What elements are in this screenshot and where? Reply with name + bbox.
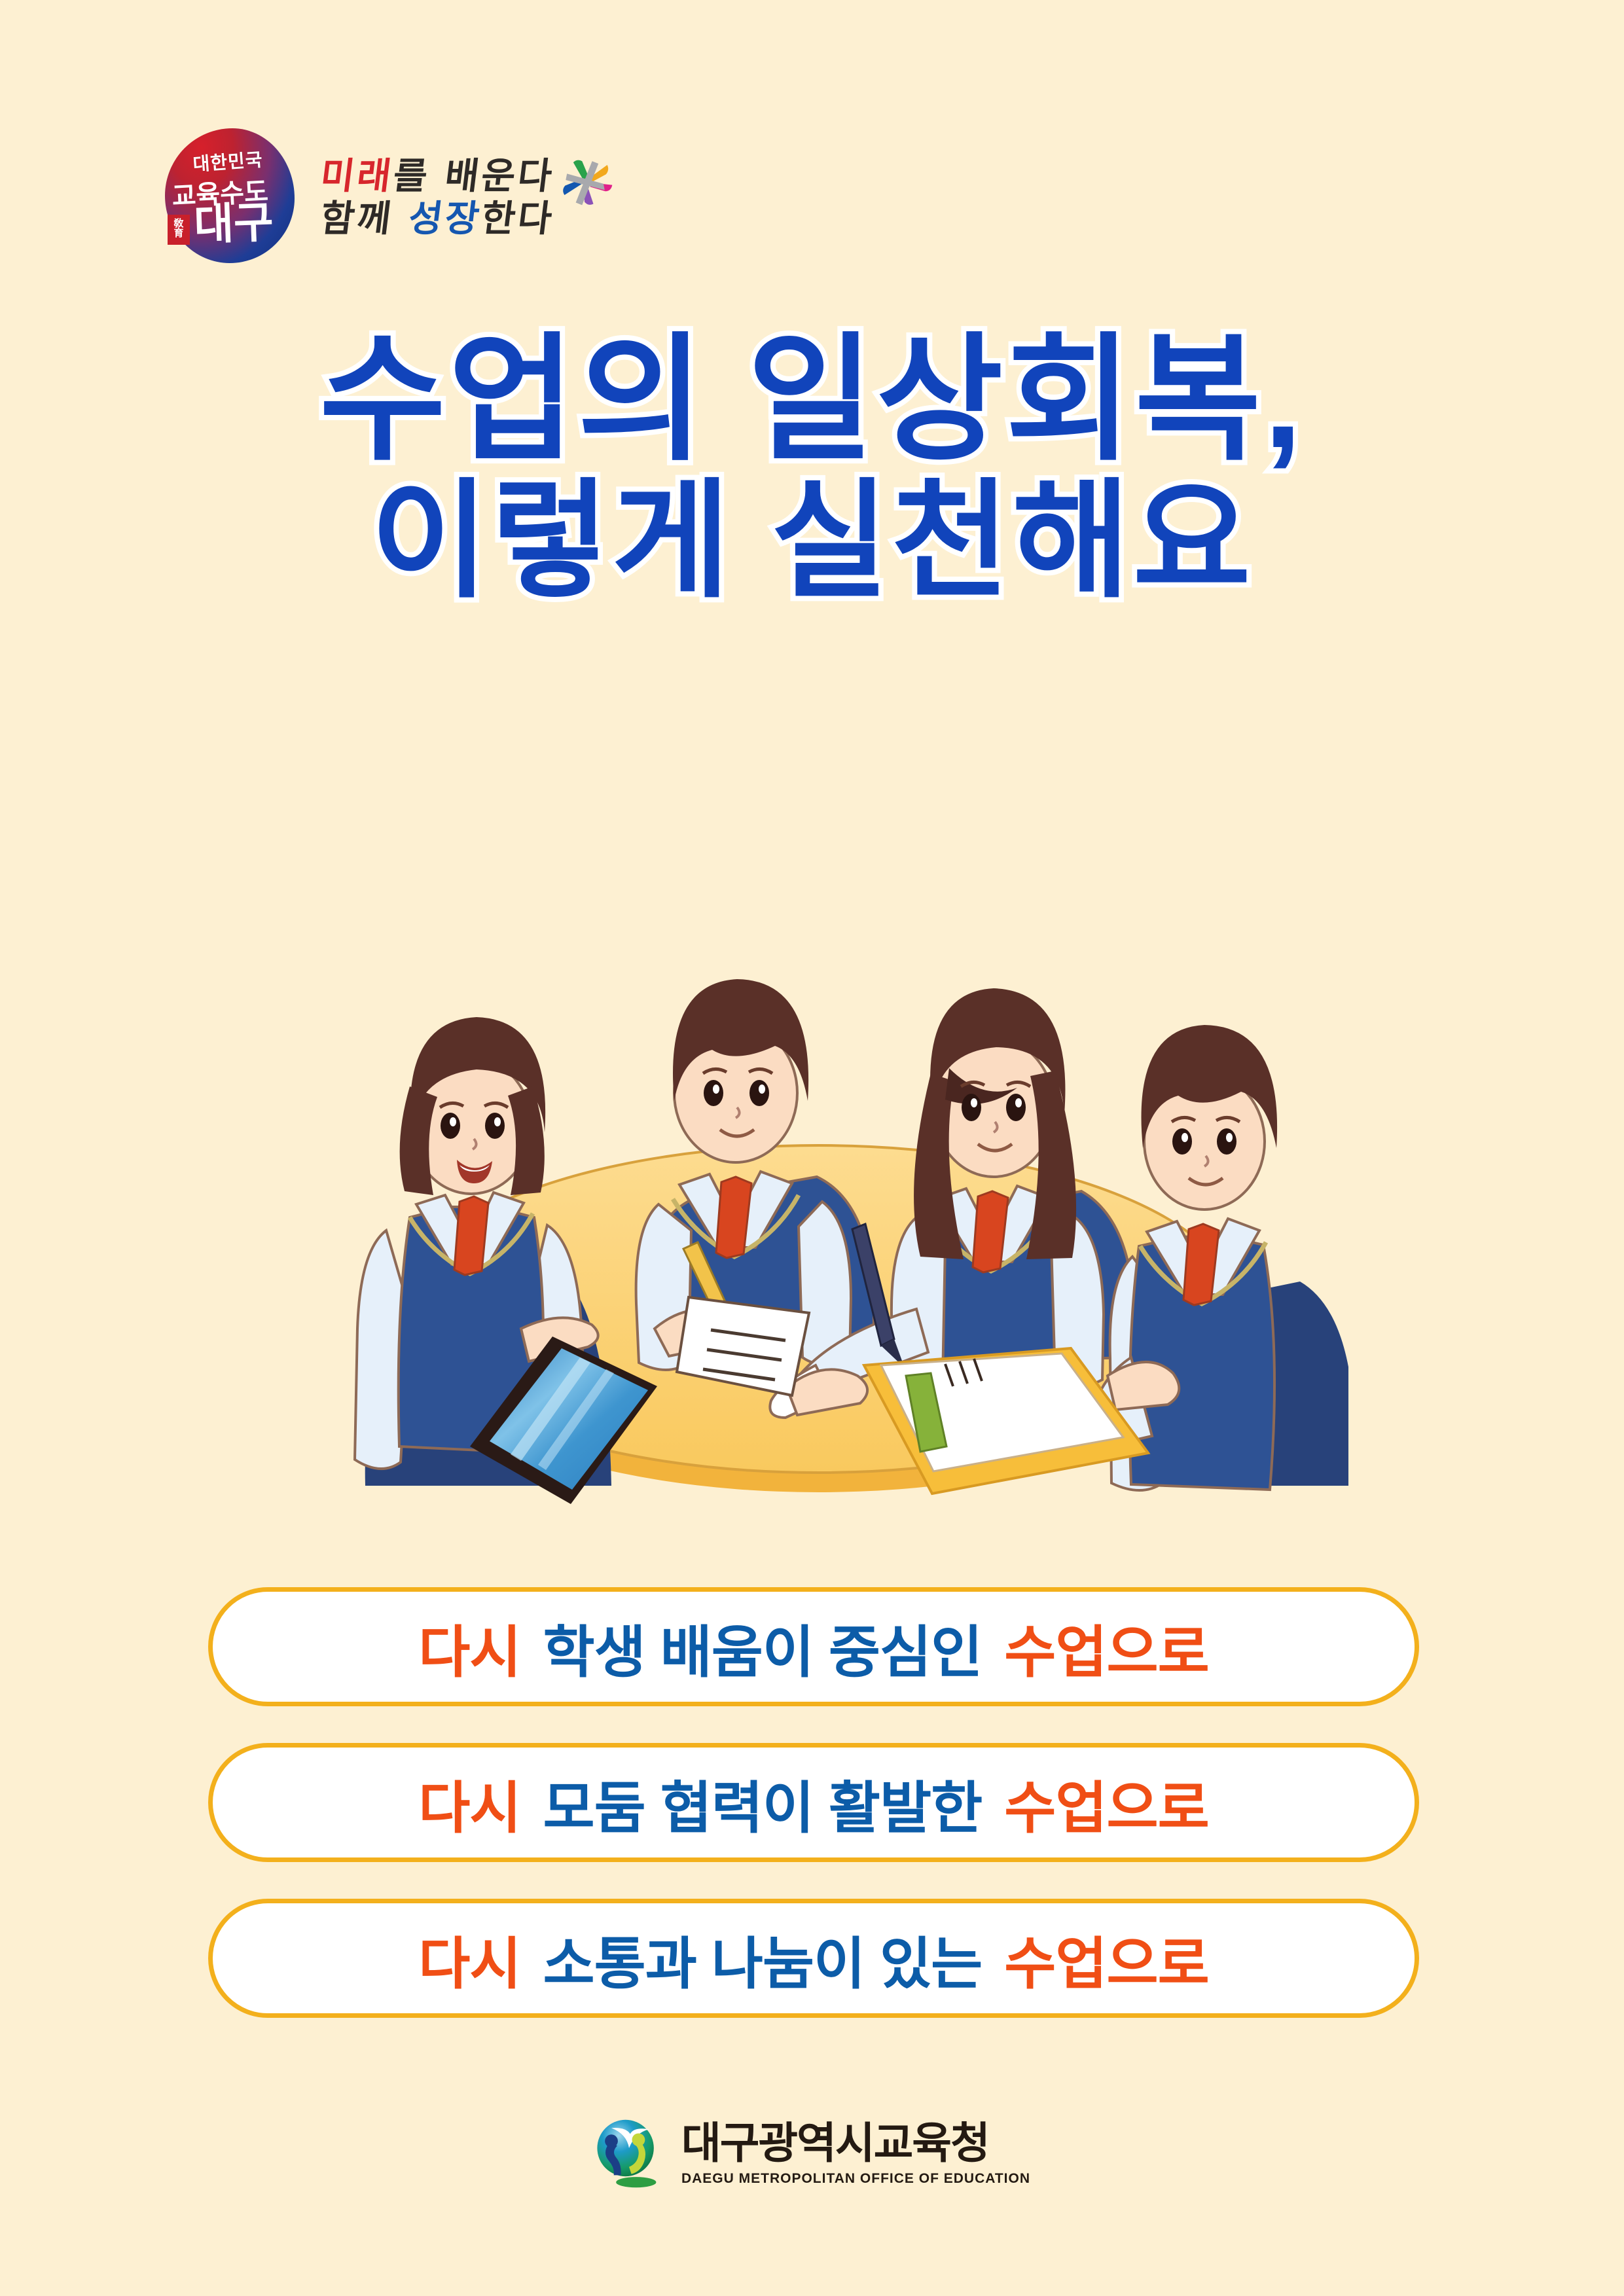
pill-2-destination: 수업으로 [1004,1777,1208,1840]
slogan-line1-red: 미래 [318,154,396,198]
title-line-2: 이렇게 실천해요 [0,473,1624,609]
message-pill-list: 다시학생 배움이 중심인수업으로 다시모둠 협력이 활발한수업으로 다시소통과 … [208,1587,1419,2054]
globe-sphere [597,2120,653,2176]
pill-1-middle: 학생 배움이 중심인 [543,1621,983,1684]
brand-header: 대한민국 교육수도 대구 敎 育 미래를 배운다 함께 성장한다 [165,128,554,263]
footer: 대구광역시교육청 DAEGU METROPOLITAN OFFICE OF ED… [0,2117,1624,2191]
emblem-seal-icon: 敎 育 [168,215,190,245]
daegu-education-capital-emblem: 대한민국 교육수도 대구 敎 育 [165,128,295,263]
pill-2-middle: 모둠 협력이 활발한 [543,1777,983,1840]
pill-3-middle: 소통과 나눔이 있는 [543,1933,983,1996]
daegu-education-globe-icon [594,2117,664,2191]
emblem-text-group: 대한민국 교육수도 대구 敎 育 [165,128,295,263]
footer-org-name-kr: 대구광역시교육청 [681,2121,989,2164]
pill-3-text: 다시소통과 나눔이 있는수업으로 [418,1918,1208,2000]
slogan-line-1: 미래를 배운다 [318,155,557,198]
title-line-1: 수업의 일상회복, [0,327,1624,473]
message-pill-3[interactable]: 다시소통과 나눔이 있는수업으로 [208,1899,1419,2018]
poster-root: 대한민국 교육수도 대구 敎 育 미래를 배운다 함께 성장한다 [0,0,1624,2296]
slogan-line1-rest: 를 배운다 [391,154,557,198]
globe-shadow [616,2177,656,2187]
pill-2-again: 다시 [418,1777,520,1840]
pill-1-again: 다시 [418,1621,520,1684]
slogan-line2-rest: 한다 [479,197,557,240]
students-discussion-illustration [288,812,1348,1505]
page-title: 수업의 일상회복, 이렇게 실천해요 [0,327,1624,609]
slogan-line2-black: 함께 [318,197,412,240]
seal-char-2: 育 [168,228,190,238]
seal-char-1: 敎 [168,219,190,228]
pill-3-destination: 수업으로 [1004,1933,1208,1996]
slogan-line-2: 함께 성장한다 [318,198,557,240]
pill-2-text: 다시모둠 협력이 활발한수업으로 [418,1762,1208,1844]
pinwheel-icon [554,149,617,211]
footer-org-name-en: DAEGU METROPOLITAN OFFICE OF EDUCATION [681,2171,1030,2187]
brand-slogan: 미래를 배운다 함께 성장한다 [321,151,554,240]
pill-1-text: 다시학생 배움이 중심인수업으로 [418,1606,1208,1688]
footer-text-group: 대구광역시교육청 DAEGU METROPOLITAN OFFICE OF ED… [681,2121,1030,2187]
pill-3-again: 다시 [418,1933,520,1996]
message-pill-1[interactable]: 다시학생 배움이 중심인수업으로 [208,1587,1419,1706]
slogan-line2-blue: 성장 [406,197,484,240]
message-pill-2[interactable]: 다시모둠 협력이 활발한수업으로 [208,1743,1419,1862]
emblem-line-3: 대구 [176,200,291,247]
pill-1-destination: 수업으로 [1004,1621,1208,1684]
